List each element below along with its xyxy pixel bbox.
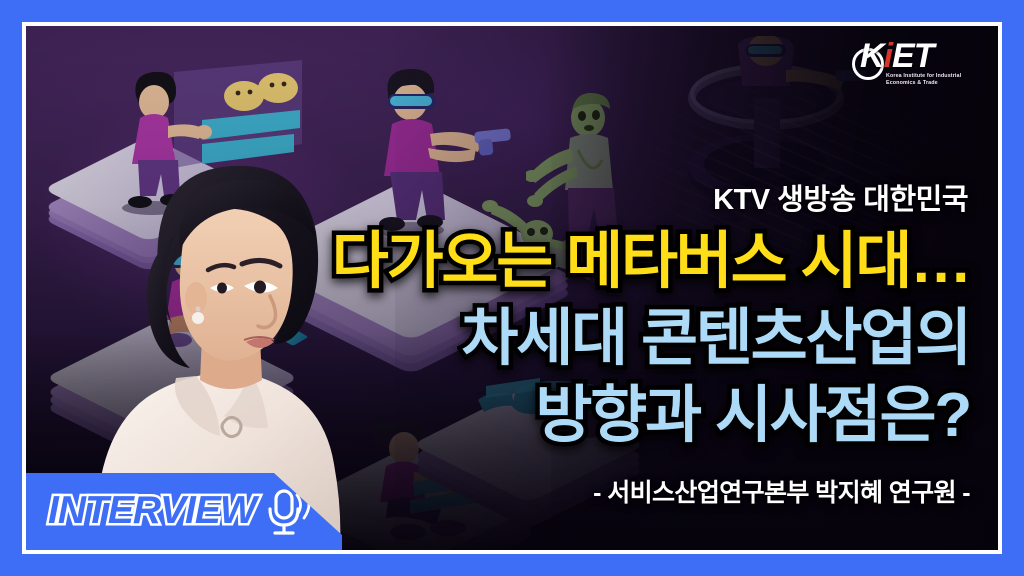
thumbnail-content: KiET Korea Institute for Industrial Econ… — [26, 26, 998, 550]
headline-line-1: 다가오는 메타버스 시대… — [332, 231, 970, 293]
headline-line-2: 차세대 콘텐츠산업의 — [461, 308, 970, 370]
program-kicker: KTV 생방송 대한민국 — [713, 176, 968, 218]
video-thumbnail: KiET Korea Institute for Industrial Econ… — [0, 0, 1024, 576]
kiet-logo-text: KiET — [860, 39, 933, 73]
speaker-attribution: - 서비스산업연구본부 박지혜 연구원 - — [593, 473, 970, 509]
kiet-logo: KiET Korea Institute for Industrial Econ… — [850, 38, 980, 92]
kiet-logo-subtitle: Korea Institute for Industrial Economics… — [886, 73, 982, 87]
interview-label: INTERVIEW — [48, 489, 256, 533]
headline-line-3: 방향과 시사점은? — [535, 385, 970, 447]
